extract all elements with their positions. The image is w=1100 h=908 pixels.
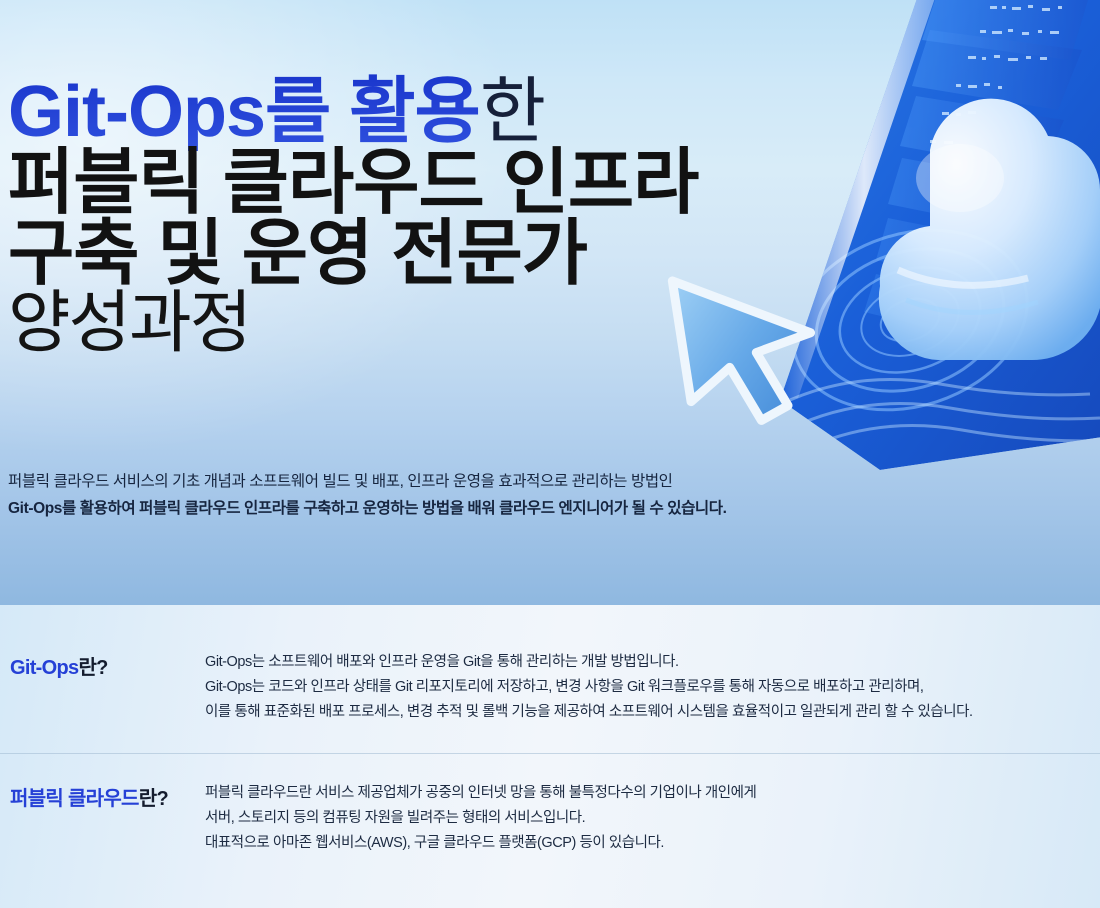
page-title: Git-Ops를 활용한 퍼블릭 클라우드 인프라 구축 및 운영 전문가 양성… xyxy=(8,78,698,357)
info-body-line: 이를 통해 표준화된 배포 프로세스, 변경 추적 및 롤백 기능을 제공하여 … xyxy=(205,700,1090,725)
course-landing-page: Git-Ops를 활용한 퍼블릭 클라우드 인프라 구축 및 운영 전문가 양성… xyxy=(0,0,1100,908)
info-body-line: 대표적으로 아마존 웹서비스(AWS), 구글 클라우드 플랫폼(GCP) 등이… xyxy=(205,831,1090,856)
info-body-gitops: Git-Ops는 소프트웨어 배포와 인프라 운영을 Git을 통해 관리하는 … xyxy=(205,650,1090,753)
headline-line-1: Git-Ops를 활용한 xyxy=(8,78,698,147)
cloud-computing-illustration xyxy=(630,0,1100,470)
info-section-public-cloud: 퍼블릭 클라우드란? 퍼블릭 클라우드란 서비스 제공업체가 공중의 인터넷 망… xyxy=(0,753,1100,856)
info-label-public-cloud: 퍼블릭 클라우드란? xyxy=(10,781,205,856)
headline-line-4: 양성과정 xyxy=(8,291,698,356)
info-body-line: Git-Ops는 코드와 인프라 상태를 Git 리포지토리에 저장하고, 변경… xyxy=(205,675,1090,700)
subtitle-line-2: Git-Ops를 활용하여 퍼블릭 클라우드 인프라를 구축하고 운영하는 방법… xyxy=(8,494,1088,523)
info-body-public-cloud: 퍼블릭 클라우드란 서비스 제공업체가 공중의 인터넷 망을 통해 불특정다수의… xyxy=(205,781,1090,856)
subtitle-line-1: 퍼블릭 클라우드 서비스의 기초 개념과 소프트웨어 빌드 및 배포, 인프라 … xyxy=(8,470,1088,494)
info-label-text: Git-Ops란? xyxy=(10,657,108,679)
info-label-suffix: 란? xyxy=(78,657,107,679)
info-section-gitops: Git-Ops란? Git-Ops는 소프트웨어 배포와 인프라 운영을 Git… xyxy=(0,605,1100,753)
headline-line-1-suffix: 한 xyxy=(480,72,545,152)
info-label-text: 퍼블릭 클라우드란? xyxy=(10,788,168,810)
info-label-suffix: 란? xyxy=(139,788,168,810)
headline-accent: Git-Ops를 활용 xyxy=(8,72,480,152)
info-body-line: Git-Ops는 소프트웨어 배포와 인프라 운영을 Git을 통해 관리하는 … xyxy=(205,650,1090,675)
hero-banner: Git-Ops를 활용한 퍼블릭 클라우드 인프라 구축 및 운영 전문가 양성… xyxy=(0,0,1100,605)
info-label-gitops: Git-Ops란? xyxy=(10,650,205,753)
info-label-accent: Git-Ops xyxy=(10,657,78,679)
hero-subtitle: 퍼블릭 클라우드 서비스의 기초 개념과 소프트웨어 빌드 및 배포, 인프라 … xyxy=(8,470,1088,523)
headline-line-3: 구축 및 운영 전문가 xyxy=(8,220,698,289)
headline-line-2: 퍼블릭 클라우드 인프라 xyxy=(8,149,698,218)
info-body-line: 퍼블릭 클라우드란 서비스 제공업체가 공중의 인터넷 망을 통해 불특정다수의… xyxy=(205,781,1090,806)
info-body-line: 서버, 스토리지 등의 컴퓨팅 자원을 빌려주는 형태의 서비스입니다. xyxy=(205,806,1090,831)
info-sections: Git-Ops란? Git-Ops는 소프트웨어 배포와 인프라 운영을 Git… xyxy=(0,605,1100,908)
info-label-accent: 퍼블릭 클라우드 xyxy=(10,788,139,810)
